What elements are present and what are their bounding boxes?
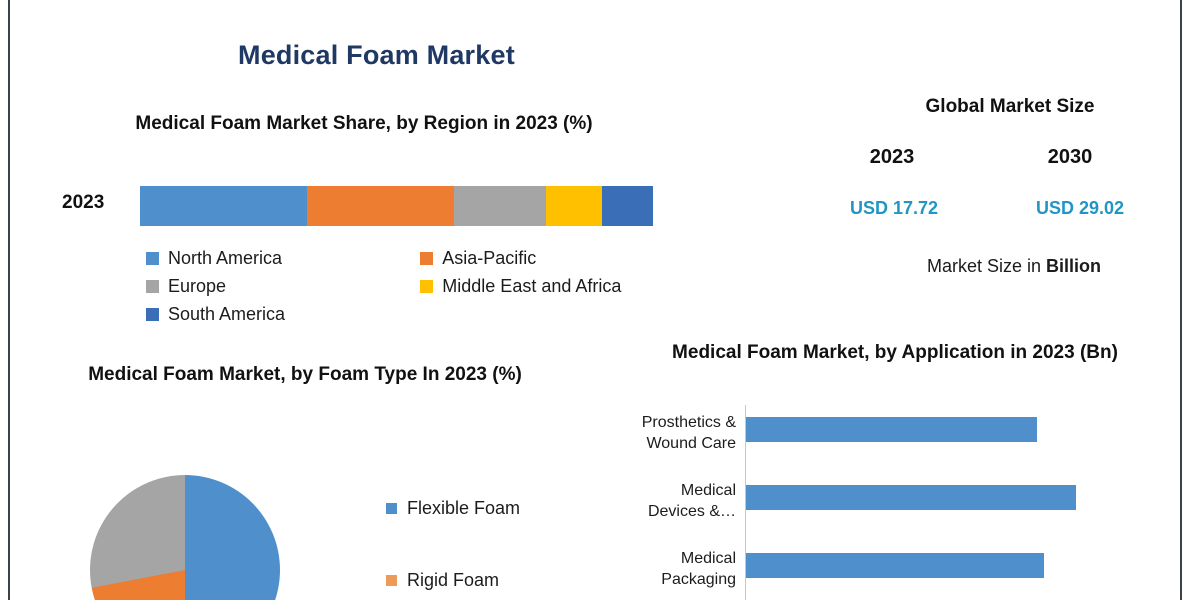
foam-type-pie-chart[interactable] <box>90 475 280 600</box>
right-border-rule <box>1180 0 1182 600</box>
application-bar[interactable] <box>746 485 1076 510</box>
application-row-prosthetics-wound-care: Prosthetics & Wound Care <box>600 405 1070 463</box>
legend-label: South America <box>168 304 285 325</box>
application-row-medical-devices: Medical Devices &… <box>600 473 1070 531</box>
category-label-line2: Devices &… <box>600 502 736 523</box>
global-market-size-year-2030: 2030 <box>1000 146 1140 169</box>
global-market-size-year-2023: 2023 <box>822 146 962 169</box>
global-market-size-title: Global Market Size <box>860 94 1160 120</box>
infographic-canvas: Medical Foam Market Medical Foam Market … <box>0 0 1200 600</box>
legend-item-rigid-foam[interactable]: Rigid Foam <box>386 544 520 600</box>
legend-label: Rigid Foam <box>407 570 499 591</box>
legend-swatch-icon <box>420 252 433 265</box>
application-row-medical-packaging: Medical Packaging <box>600 541 1070 599</box>
legend-item-middle-east-and-africa[interactable]: Middle East and Africa <box>420 276 686 297</box>
category-label-line1: Medical <box>600 549 736 570</box>
legend-swatch-icon <box>386 575 397 586</box>
legend-swatch-icon <box>146 252 159 265</box>
category-label-line1: Medical <box>600 481 736 502</box>
region-segment-south-america[interactable] <box>602 186 653 226</box>
region-segment-europe[interactable] <box>454 186 546 226</box>
application-bar-chart: Prosthetics & Wound Care Medical Devices… <box>600 405 1070 600</box>
foam-type-chart-title: Medical Foam Market, by Foam Type In 202… <box>60 362 550 388</box>
application-category-label: Medical Devices &… <box>600 481 736 523</box>
global-market-size-value-2030: USD 29.02 <box>1000 198 1160 219</box>
page-title: Medical Foam Market <box>238 40 515 71</box>
application-bar[interactable] <box>746 417 1037 442</box>
legend-item-asia-pacific[interactable]: Asia-Pacific <box>420 248 686 269</box>
legend-label: Flexible Foam <box>407 498 520 519</box>
category-label-line1: Prosthetics & <box>600 413 736 434</box>
legend-row: North America Asia-Pacific <box>146 248 686 269</box>
application-category-label: Prosthetics & Wound Care <box>600 413 736 455</box>
category-label-line2: Wound Care <box>600 434 736 455</box>
legend-item-south-america[interactable]: South America <box>146 304 466 325</box>
legend-swatch-icon <box>146 280 159 293</box>
legend-label: Middle East and Africa <box>442 276 621 297</box>
legend-label: Asia-Pacific <box>442 248 536 269</box>
legend-label: North America <box>168 248 282 269</box>
footnote-prefix: Market Size in <box>927 256 1046 276</box>
region-segment-asia-pacific[interactable] <box>307 186 455 226</box>
legend-item-europe[interactable]: Europe <box>146 276 420 297</box>
global-market-size-value-2023: USD 17.72 <box>814 198 974 219</box>
region-segment-north-america[interactable] <box>140 186 307 226</box>
region-chart-category-label: 2023 <box>62 192 104 214</box>
legend-swatch-icon <box>146 308 159 321</box>
legend-swatch-icon <box>386 503 397 514</box>
legend-row: South America <box>146 304 686 325</box>
application-bar[interactable] <box>746 553 1044 578</box>
legend-item-flexible-foam[interactable]: Flexible Foam <box>386 472 520 544</box>
footnote-unit: Billion <box>1046 256 1101 276</box>
legend-swatch-icon <box>420 280 433 293</box>
application-chart-title: Medical Foam Market, by Application in 2… <box>630 340 1160 366</box>
application-category-label: Medical Packaging <box>600 549 736 591</box>
global-market-size-footnote: Market Size in Billion <box>856 256 1172 277</box>
left-border-rule <box>8 0 10 600</box>
region-segment-middle-east-africa[interactable] <box>546 186 602 226</box>
legend-label: Europe <box>168 276 226 297</box>
category-label-line2: Packaging <box>600 570 736 591</box>
region-chart-title: Medical Foam Market Share, by Region in … <box>96 111 632 137</box>
legend-item-north-america[interactable]: North America <box>146 248 420 269</box>
legend-row: Europe Middle East and Africa <box>146 276 686 297</box>
region-stacked-bar <box>140 186 653 226</box>
foam-type-chart-legend: Flexible Foam Rigid Foam <box>386 472 520 600</box>
region-chart-legend: North America Asia-Pacific Europe Middle… <box>146 248 686 332</box>
